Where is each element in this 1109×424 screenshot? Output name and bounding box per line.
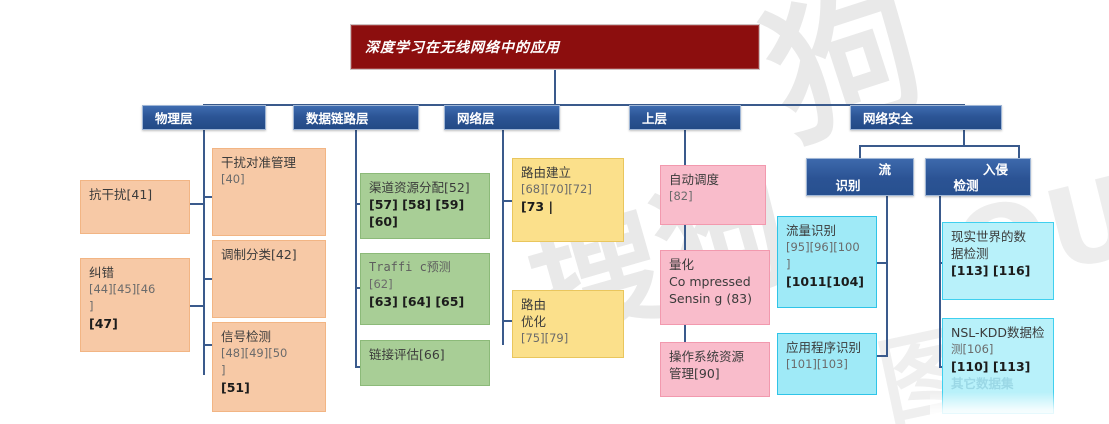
- node-anti-jamming-label: 抗干扰[41]: [89, 186, 182, 203]
- node-route-optimization-line3: [75][79]: [521, 330, 616, 347]
- node-traffic-prediction-line3: [63] [64] [65]: [369, 293, 482, 310]
- node-auto-scheduling-line2: [82]: [669, 188, 758, 205]
- connector-tap-error-correction: [188, 305, 204, 307]
- node-quantization-line1: 量化: [669, 256, 762, 273]
- header-network[interactable]: 网络层: [444, 105, 560, 130]
- node-os-resource-management-line1: 操作系统资源: [669, 348, 762, 365]
- subheader-intrusion-detection[interactable]: 入侵 检测: [925, 158, 1031, 196]
- header-network-label: 网络层: [457, 108, 495, 127]
- node-nsl-kdd-detection[interactable]: NSL-KDD数据检 测[106] [110] [113] 其它数据集: [942, 318, 1054, 414]
- node-modulation-classification-line1: 调制分类[42]: [221, 246, 318, 263]
- node-quantization-line2: Co mpressed: [669, 273, 762, 290]
- node-traffic-recognition[interactable]: 流量识别 [95][96][100 ] [1011[104]: [777, 216, 877, 308]
- connector-root-stem: [554, 70, 556, 105]
- node-traffic-recognition-line4: [1011[104]: [786, 273, 869, 290]
- node-route-optimization-line2: 优化: [521, 313, 616, 330]
- node-interference-alignment-line2: [40]: [221, 171, 318, 188]
- connector-security-stem: [963, 130, 965, 146]
- node-route-optimization[interactable]: 路由 优化 [75][79]: [512, 290, 624, 358]
- node-nsl-kdd-detection-line2: 测[106]: [951, 341, 1046, 358]
- node-real-world-data-detection-line1: 现实世界的数: [951, 228, 1046, 245]
- node-route-establishment-line1: 路由建立: [521, 164, 616, 181]
- connector-security-bus: [859, 145, 1019, 147]
- diagram-canvas: 狗 搜狗 OU 图 深度学习在无线网络中的应用 物理层 数据链路层 网络层 上层…: [0, 0, 1109, 424]
- node-traffic-recognition-line2: [95][96][100: [786, 239, 869, 256]
- connector-traffic-id-spine: [886, 196, 888, 356]
- connector-drop-intrusion: [1018, 145, 1020, 159]
- node-error-correction-line4: [47]: [89, 315, 182, 332]
- node-application-recognition[interactable]: 应用程序识别 [101][103]: [777, 333, 877, 395]
- node-modulation-classification[interactable]: 调制分类[42]: [212, 240, 326, 318]
- node-auto-scheduling-line1: 自动调度: [669, 171, 758, 188]
- node-real-world-data-detection-line2: 据检测: [951, 245, 1046, 262]
- node-nsl-kdd-detection-line3: [110] [113]: [951, 358, 1046, 375]
- node-real-world-data-detection[interactable]: 现实世界的数 据检测 [113] [116]: [942, 222, 1054, 300]
- root-node[interactable]: 深度学习在无线网络中的应用: [350, 24, 760, 70]
- node-signal-detection[interactable]: 信号检测 [48][49][50 ] [51]: [212, 322, 326, 412]
- header-security-label: 网络安全: [863, 108, 913, 127]
- node-signal-detection-line2: [48][49][50: [221, 345, 318, 362]
- node-traffic-recognition-line1: 流量识别: [786, 222, 869, 239]
- connector-physical-spine: [203, 130, 205, 375]
- node-quantization-line3: Sensin g (83): [669, 290, 762, 307]
- node-application-recognition-line2: [101][103]: [786, 356, 869, 373]
- subheader-intrusion-detection-line1: 入侵: [926, 162, 1020, 178]
- node-channel-resource-allocation-line1: 渠道资源分配[52]: [369, 179, 482, 196]
- root-node-label: 深度学习在无线网络中的应用: [365, 37, 560, 57]
- header-physical-label: 物理层: [155, 108, 193, 127]
- connector-datalink-spine: [355, 130, 357, 368]
- node-route-optimization-line1: 路由: [521, 296, 616, 313]
- node-application-recognition-line1: 应用程序识别: [786, 339, 869, 356]
- connector-tap-anti-jamming: [188, 203, 204, 205]
- subheader-traffic-identification-line1: 流: [807, 162, 903, 178]
- node-traffic-prediction-line1: Traffi c预测: [369, 259, 482, 276]
- node-link-evaluation-line1: 链接评估[66]: [369, 346, 482, 363]
- node-traffic-prediction[interactable]: Traffi c预测 [62] [63] [64] [65]: [360, 253, 490, 325]
- node-os-resource-management[interactable]: 操作系统资源 管理[90]: [660, 342, 770, 397]
- node-quantization[interactable]: 量化 Co mpressed Sensin g (83): [660, 250, 770, 325]
- connector-intrusion-spine: [939, 196, 941, 368]
- node-anti-jamming[interactable]: 抗干扰[41]: [80, 180, 190, 234]
- node-interference-alignment-line1: 干扰对准管理: [221, 154, 318, 171]
- node-real-world-data-detection-line3: [113] [116]: [951, 262, 1046, 279]
- node-traffic-prediction-line2: [62]: [369, 276, 482, 293]
- header-datalink[interactable]: 数据链路层: [293, 105, 419, 130]
- subheader-traffic-identification[interactable]: 流 识别: [806, 158, 914, 196]
- node-signal-detection-line4: [51]: [221, 379, 318, 396]
- connector-drop-traffic-id: [859, 145, 861, 159]
- node-traffic-recognition-line3: ]: [786, 256, 869, 273]
- node-nsl-kdd-detection-line1: NSL-KDD数据检: [951, 324, 1046, 341]
- node-auto-scheduling[interactable]: 自动调度 [82]: [660, 165, 766, 225]
- header-upper-label: 上层: [642, 108, 667, 127]
- node-error-correction[interactable]: 纠错 [44][45][46 ] [47]: [80, 258, 190, 352]
- node-channel-resource-allocation[interactable]: 渠道资源分配[52] [57] [58] [59] [60]: [360, 173, 490, 239]
- node-signal-detection-line3: ]: [221, 362, 318, 379]
- header-upper[interactable]: 上层: [629, 105, 741, 130]
- connector-network-spine: [502, 130, 504, 345]
- header-datalink-label: 数据链路层: [306, 108, 369, 127]
- node-route-establishment[interactable]: 路由建立 [68][70][72] [73 |: [512, 158, 624, 242]
- node-os-resource-management-line2: 管理[90]: [669, 365, 762, 382]
- node-route-establishment-line3: [73 |: [521, 198, 616, 215]
- node-route-establishment-line2: [68][70][72]: [521, 181, 616, 198]
- node-signal-detection-line1: 信号检测: [221, 328, 318, 345]
- watermark-glyph-1: 狗: [750, 0, 939, 160]
- node-error-correction-line2: [44][45][46: [89, 281, 182, 298]
- node-error-correction-line1: 纠错: [89, 264, 182, 281]
- node-link-evaluation[interactable]: 链接评估[66]: [360, 340, 490, 386]
- subheader-traffic-identification-line2: 识别: [807, 178, 903, 194]
- node-nsl-kdd-detection-line4: 其它数据集: [951, 375, 1046, 392]
- header-security[interactable]: 网络安全: [850, 105, 1002, 130]
- subheader-intrusion-detection-line2: 检测: [926, 178, 1020, 194]
- node-error-correction-line3: ]: [89, 298, 182, 315]
- node-channel-resource-allocation-line2: [57] [58] [59] [60]: [369, 196, 482, 230]
- header-physical[interactable]: 物理层: [142, 105, 266, 130]
- node-interference-alignment[interactable]: 干扰对准管理 [40]: [212, 148, 326, 236]
